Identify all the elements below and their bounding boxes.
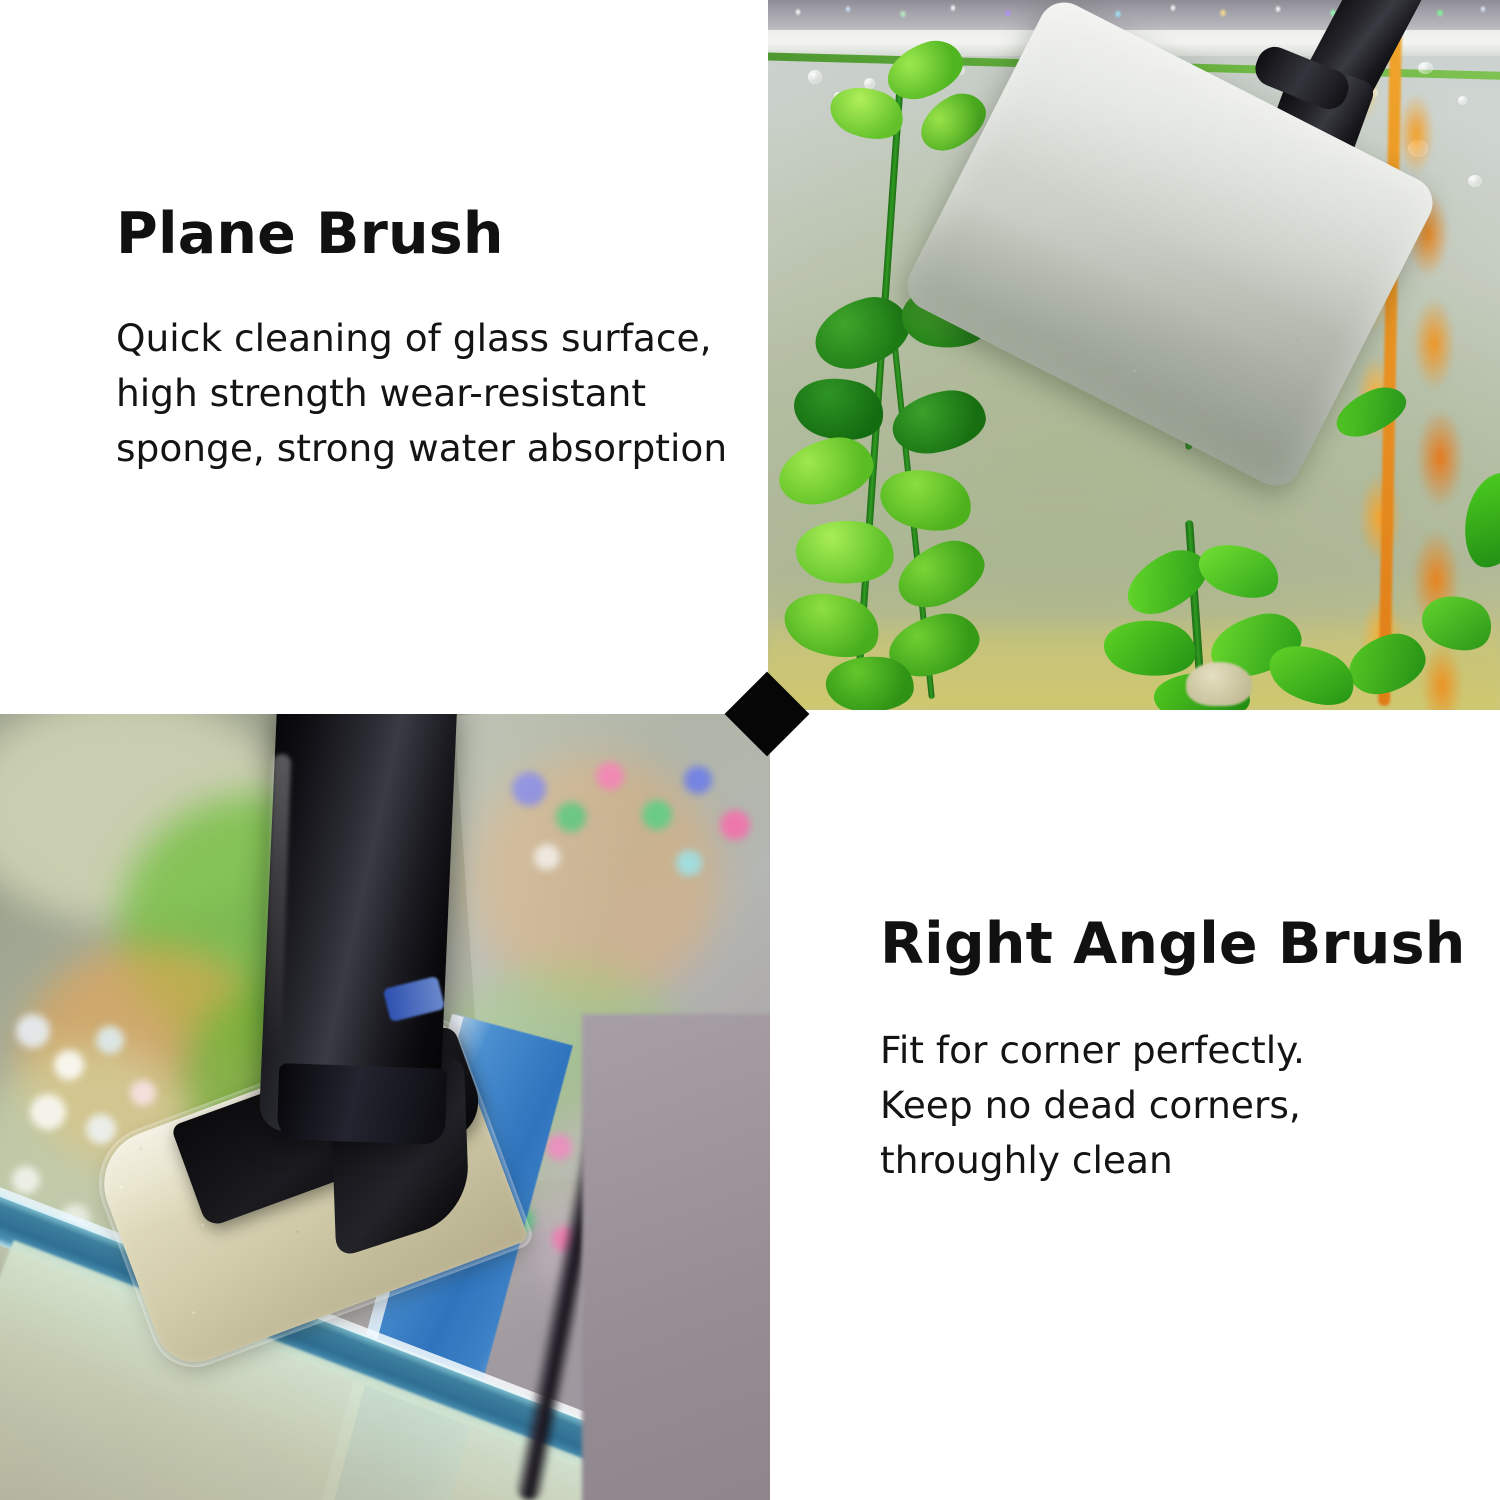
right-angle-brush-text-block: Right Angle Brush Fit for corner perfect… [880,916,1465,1188]
plane-brush-description-line-1: Quick cleaning of glass surface, [116,311,727,366]
product-feature-infographic: Plane Brush Quick cleaning of glass surf… [0,0,1500,1500]
bubble [808,70,822,84]
right-angle-brush-description-line-3: throughly clean [880,1133,1465,1188]
right-angle-brush-description-line-2: Keep no dead corners, [880,1078,1465,1133]
plane-brush-description-line-3: sponge, strong water absorption [116,421,727,476]
right-angle-brush-description: Fit for corner perfectly. Keep no dead c… [880,1023,1465,1188]
plane-brush-description-line-2: high strength wear-resistant [116,366,727,421]
background-wall [582,1014,770,1500]
right-angle-brush-title: Right Angle Brush [880,916,1465,973]
plane-brush-description: Quick cleaning of glass surface, high st… [116,311,727,476]
plane-brush-photo [768,0,1500,710]
plane-brush-text-block: Plane Brush Quick cleaning of glass surf… [116,206,727,476]
right-angle-brush-photo [0,714,770,1500]
right-angle-brush-description-line-1: Fit for corner perfectly. [880,1023,1465,1078]
brush-handle-collar [277,1063,448,1145]
plane-brush-title: Plane Brush [116,206,727,263]
